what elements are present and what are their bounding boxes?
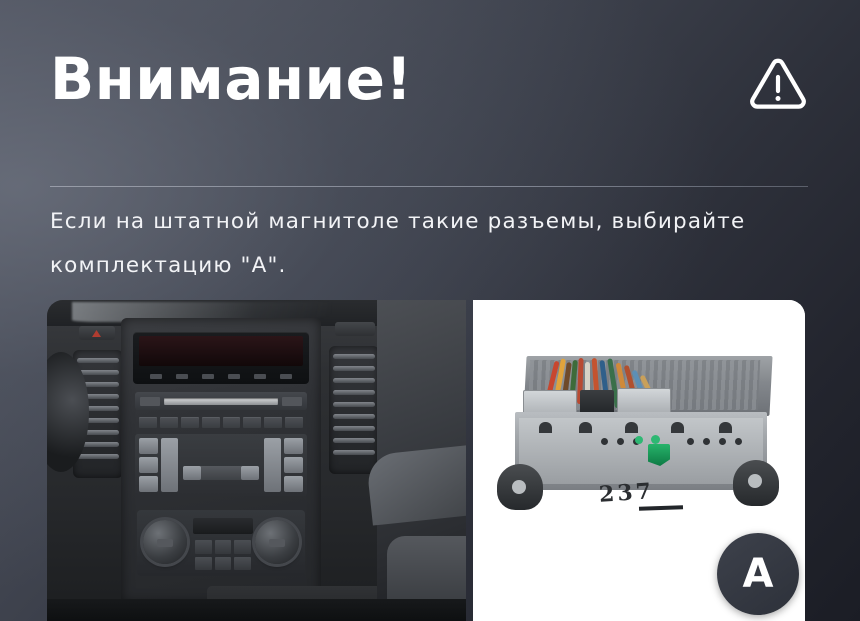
dashboard-lower-shadow (47, 599, 466, 621)
dashboard-illustration (47, 300, 466, 621)
dashboard-right-side (377, 300, 466, 621)
climate-control-panel (137, 510, 305, 576)
page-title: Внимание! (50, 50, 412, 108)
radio-preset-row (135, 414, 307, 430)
chassis-slot-row (533, 422, 753, 434)
cd-load-button (282, 397, 302, 406)
warning-slide: Внимание! Если на штатной магнитоле таки… (0, 0, 860, 621)
green-indicator-2 (651, 435, 660, 444)
cd-slot-row (135, 392, 307, 410)
head-unit: 237 (507, 356, 771, 524)
body-text-line-1: Если на штатной магнитоле такие разъемы,… (50, 200, 820, 244)
climate-display (193, 518, 253, 534)
handwritten-marker: 237 (598, 478, 655, 508)
option-badge: A (717, 533, 799, 615)
radio-display (139, 336, 303, 366)
cd-eject-button (140, 397, 160, 406)
green-indicator-1 (635, 436, 643, 444)
display-button-row (143, 372, 299, 380)
climate-button-grid (195, 540, 251, 570)
mounting-tab-right (733, 460, 779, 506)
center-console (121, 318, 321, 603)
body-text: Если на штатной магнитоле такие разъемы,… (50, 200, 820, 288)
mounting-tab-left (497, 464, 543, 510)
cd-slot (164, 398, 278, 405)
photo-row: 237 A (47, 300, 805, 621)
radio-keypad (135, 434, 307, 496)
climate-knob-right (255, 520, 299, 564)
hazard-button (79, 326, 115, 340)
warning-triangle-icon (748, 57, 808, 113)
head-unit-connectors-photo: 237 A (473, 300, 805, 621)
header-divider (50, 186, 808, 187)
option-badge-label: A (743, 554, 774, 594)
climate-knob-left (143, 520, 187, 564)
handwritten-underline (639, 505, 683, 511)
display-bezel (133, 332, 309, 384)
body-text-line-2: комплектацию "А". (50, 244, 820, 288)
air-vent-right (329, 346, 379, 474)
car-dashboard-photo (47, 300, 466, 621)
side-button (335, 322, 375, 336)
